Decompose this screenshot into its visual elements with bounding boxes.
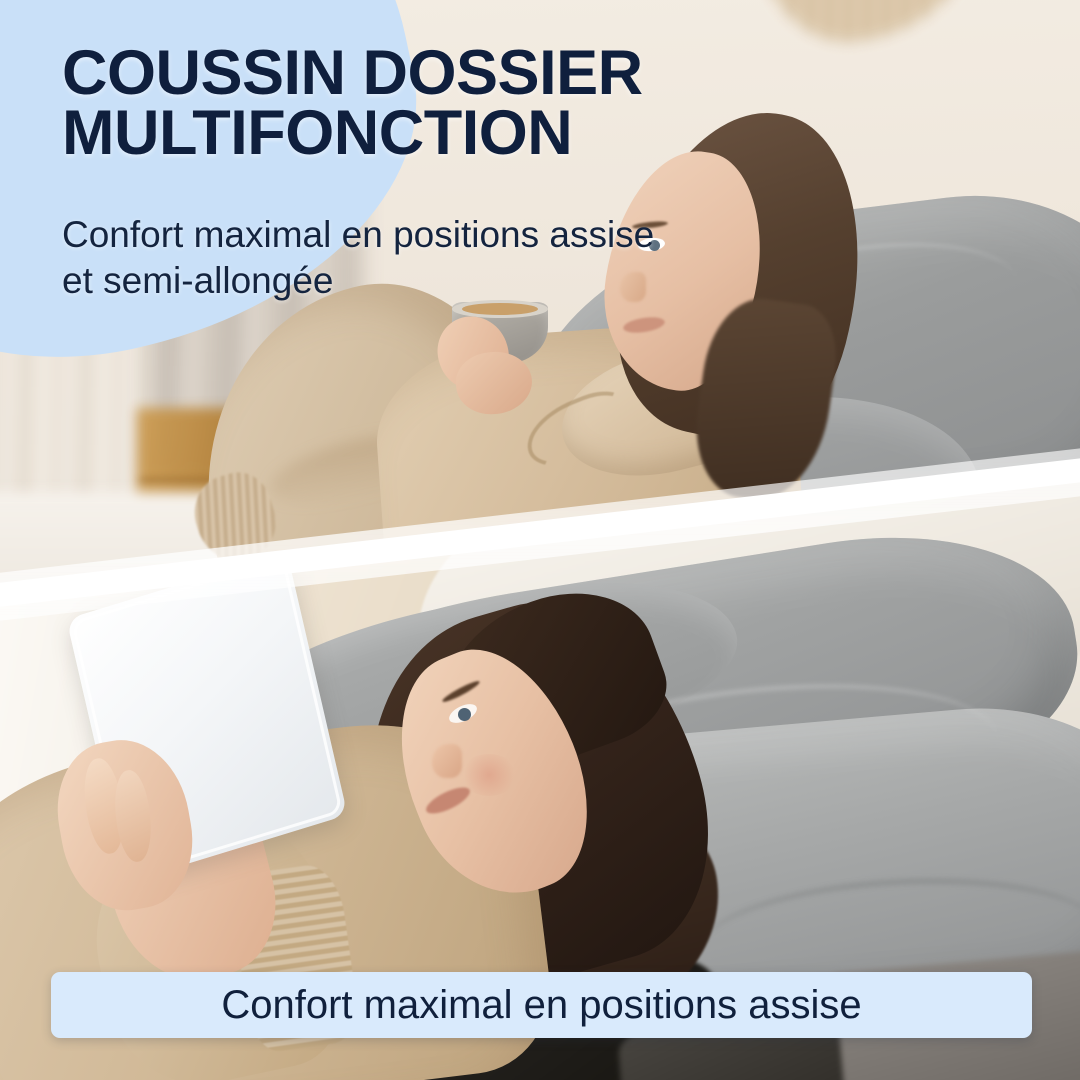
subtitle: Confort maximal en positions assise et s…: [62, 212, 662, 305]
macrame-wall-hanging: [756, 0, 985, 49]
mug-contents: [462, 303, 538, 315]
subject-nose-bottom: [432, 744, 462, 778]
caption-text: Confort maximal en positions assise: [221, 985, 861, 1025]
caption-banner: Confort maximal en positions assise: [51, 972, 1032, 1038]
subject-pupil-bottom: [458, 708, 471, 721]
headline-line-2: MULTIFONCTION: [62, 104, 762, 164]
promo-banner: COUSSIN DOSSIERMULTIFONCTION Confort max…: [0, 0, 1080, 1080]
page-title: COUSSIN DOSSIERMULTIFONCTION: [62, 44, 762, 164]
